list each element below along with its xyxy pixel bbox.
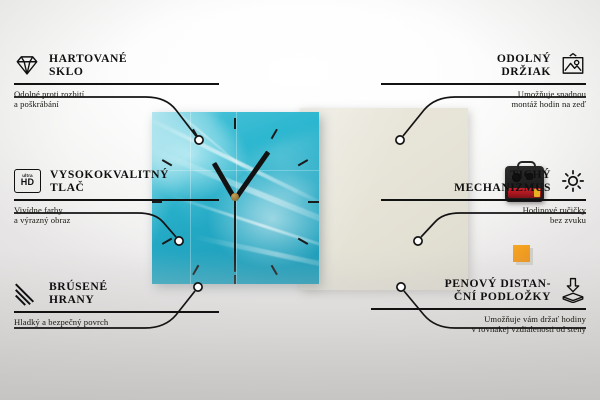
- feature-description: Umožňuje vám držať hodiny v rovnakej vzd…: [371, 314, 586, 335]
- feature-high-quality-print: ultra HD VYSOKOKVALITNÝ TLAČ Vivídne far…: [14, 166, 219, 226]
- feature-description: Hodinové ručičky bez zvuku: [381, 205, 586, 226]
- feature-title: TICHÝ MECHANIZMUS: [454, 168, 551, 195]
- callout-dot-holder: [396, 136, 404, 144]
- feature-header: TICHÝ MECHANIZMUS: [381, 166, 586, 196]
- feature-header: ODOLNÝ DRŽIAK: [381, 50, 586, 80]
- divider: [381, 83, 586, 85]
- feature-description: Odolné proti rozbití a poškrábání: [14, 89, 219, 110]
- feature-title: ODOLNÝ DRŽIAK: [497, 52, 551, 79]
- divider: [371, 308, 586, 310]
- feature-description: Umožňuje snadnou montáž hodin na zeď: [381, 89, 586, 110]
- feature-title: PENOVÝ DISTAN- ČNÍ PODLOŽKY: [445, 277, 551, 304]
- divider: [14, 311, 219, 313]
- feature-durable-holder: ODOLNÝ DRŽIAK Umožňuje snadnou montáž ho…: [381, 50, 586, 110]
- feature-header: PENOVÝ DISTAN- ČNÍ PODLOŽKY: [371, 275, 586, 305]
- diagonal-lines-icon: [14, 280, 40, 306]
- ultra-hd-icon-bottom-text: HD: [21, 178, 34, 188]
- divider: [14, 83, 219, 85]
- feature-tempered-glass: HARTOVANÉ SKLO Odolné proti rozbití a po…: [14, 50, 219, 110]
- picture-hanger-icon: [560, 52, 586, 78]
- diamond-icon: [14, 52, 40, 78]
- arrow-on-layers-icon: [560, 277, 586, 303]
- feature-title: BRÚSENÉ HRANY: [49, 280, 108, 307]
- feature-description: Vivídne farby a výrazný obraz: [14, 205, 219, 226]
- feature-header: ultra HD VYSOKOKVALITNÝ TLAČ: [14, 166, 219, 196]
- callout-dot-print: [175, 237, 183, 245]
- ultra-hd-icon: ultra HD: [14, 169, 41, 193]
- divider: [381, 199, 586, 201]
- feature-header: BRÚSENÉ HRANY: [14, 278, 219, 308]
- feature-title: HARTOVANÉ SKLO: [49, 52, 127, 79]
- feature-silent-mechanism: TICHÝ MECHANIZMUS Hodinové ručičky bez z…: [381, 166, 586, 226]
- callout-dot-glass: [195, 136, 203, 144]
- gear-icon: [560, 168, 586, 194]
- feature-header: HARTOVANÉ SKLO: [14, 50, 219, 80]
- feature-description: Hladký a bezpečný povrch: [14, 317, 219, 328]
- feature-title: VYSOKOKVALITNÝ TLAČ: [50, 168, 169, 195]
- feature-polished-edges: BRÚSENÉ HRANY Hladký a bezpečný povrch: [14, 278, 219, 327]
- callout-dot-mechanism: [414, 237, 422, 245]
- divider: [14, 199, 219, 201]
- infographic-canvas: HARTOVANÉ SKLO Odolné proti rozbití a po…: [0, 0, 600, 400]
- feature-foam-spacers: PENOVÝ DISTAN- ČNÍ PODLOŽKY Umožňuje vám…: [371, 275, 586, 335]
